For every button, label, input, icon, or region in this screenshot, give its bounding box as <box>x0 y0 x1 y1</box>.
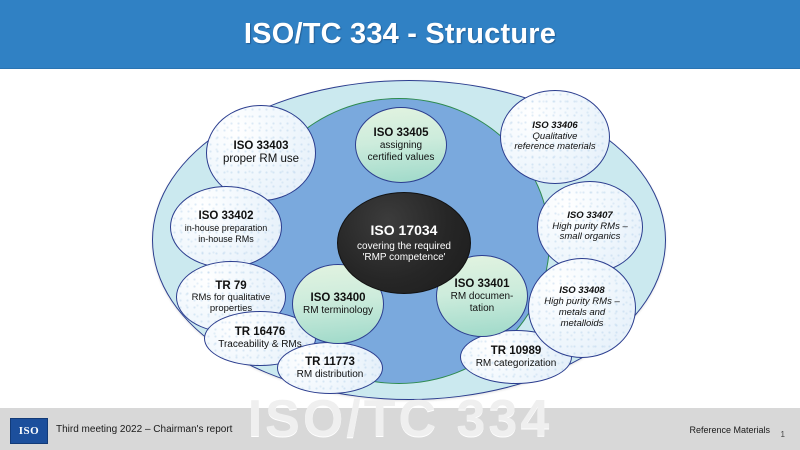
bubble-desc-line1: in-house preparation <box>185 223 268 233</box>
bubble-desc-line1: RMs for qualitative <box>192 293 271 304</box>
diagram-canvas: ISO 33403 proper RM use ISO 33402 in-hou… <box>0 68 800 408</box>
center-line1: covering the required <box>357 241 451 252</box>
bubble-iso-17034-center[interactable]: ISO 17034 covering the required 'RMP com… <box>337 192 471 294</box>
bubble-code: ISO 33406 <box>532 121 577 132</box>
bubble-desc-line1: RM categorization <box>476 358 557 369</box>
bubble-desc-line2: tation <box>470 303 494 314</box>
bubble-code: ISO 33407 <box>567 211 612 222</box>
bubble-desc-line2: reference materials <box>514 142 595 153</box>
bubble-code: ISO 33402 <box>199 210 254 223</box>
bubble-code: TR 79 <box>215 280 246 293</box>
bubble-desc-line2: properties <box>210 304 252 315</box>
bubble-desc-line1: assigning <box>380 140 422 151</box>
footer-page-number: 1 <box>781 430 785 439</box>
bubble-desc-line1: Traceability & RMs <box>218 339 302 350</box>
bubble-desc-line2: small organics <box>560 232 621 243</box>
bubble-code: ISO 33401 <box>455 278 510 291</box>
bubble-desc-line2: certified values <box>368 152 435 163</box>
iso-logo: ISO <box>10 418 48 444</box>
bubble-desc-line3: metalloids <box>561 319 604 330</box>
footer-meeting-label: Third meeting 2022 – Chairman's report <box>56 424 232 435</box>
center-line2: 'RMP competence' <box>362 252 445 263</box>
bubble-desc-line1: RM distribution <box>297 369 364 380</box>
iso-logo-text: ISO <box>19 425 39 437</box>
bubble-iso-33408[interactable]: ISO 33408 High purity RMs – metals and m… <box>528 258 636 358</box>
bubble-iso-33405[interactable]: ISO 33405 assigning certified values <box>355 107 447 183</box>
slide-header: ISO/TC 334 - Structure <box>0 0 800 69</box>
bubble-desc-line2: in-house RMs <box>198 234 254 244</box>
footer-committee-label: Reference Materials <box>689 425 770 435</box>
bubble-code: ISO 33403 <box>234 140 289 153</box>
bubble-code: ISO 33400 <box>311 292 366 305</box>
bubble-iso-33406[interactable]: ISO 33406 Qualitative reference material… <box>500 90 610 184</box>
center-code: ISO 17034 <box>371 223 438 239</box>
page-title: ISO/TC 334 - Structure <box>244 18 556 51</box>
bubble-desc-line1: RM documen- <box>451 291 514 302</box>
bubble-code: ISO 33405 <box>374 127 429 140</box>
bubble-iso-33402[interactable]: ISO 33402 in-house preparation in-house … <box>170 186 282 268</box>
bubble-desc-line1: RM terminology <box>303 305 373 316</box>
bubble-code: TR 10989 <box>491 345 542 358</box>
bubble-code: TR 16476 <box>235 326 286 339</box>
bubble-code: TR 11773 <box>305 356 355 369</box>
bubble-desc-line1: proper RM use <box>223 153 299 166</box>
